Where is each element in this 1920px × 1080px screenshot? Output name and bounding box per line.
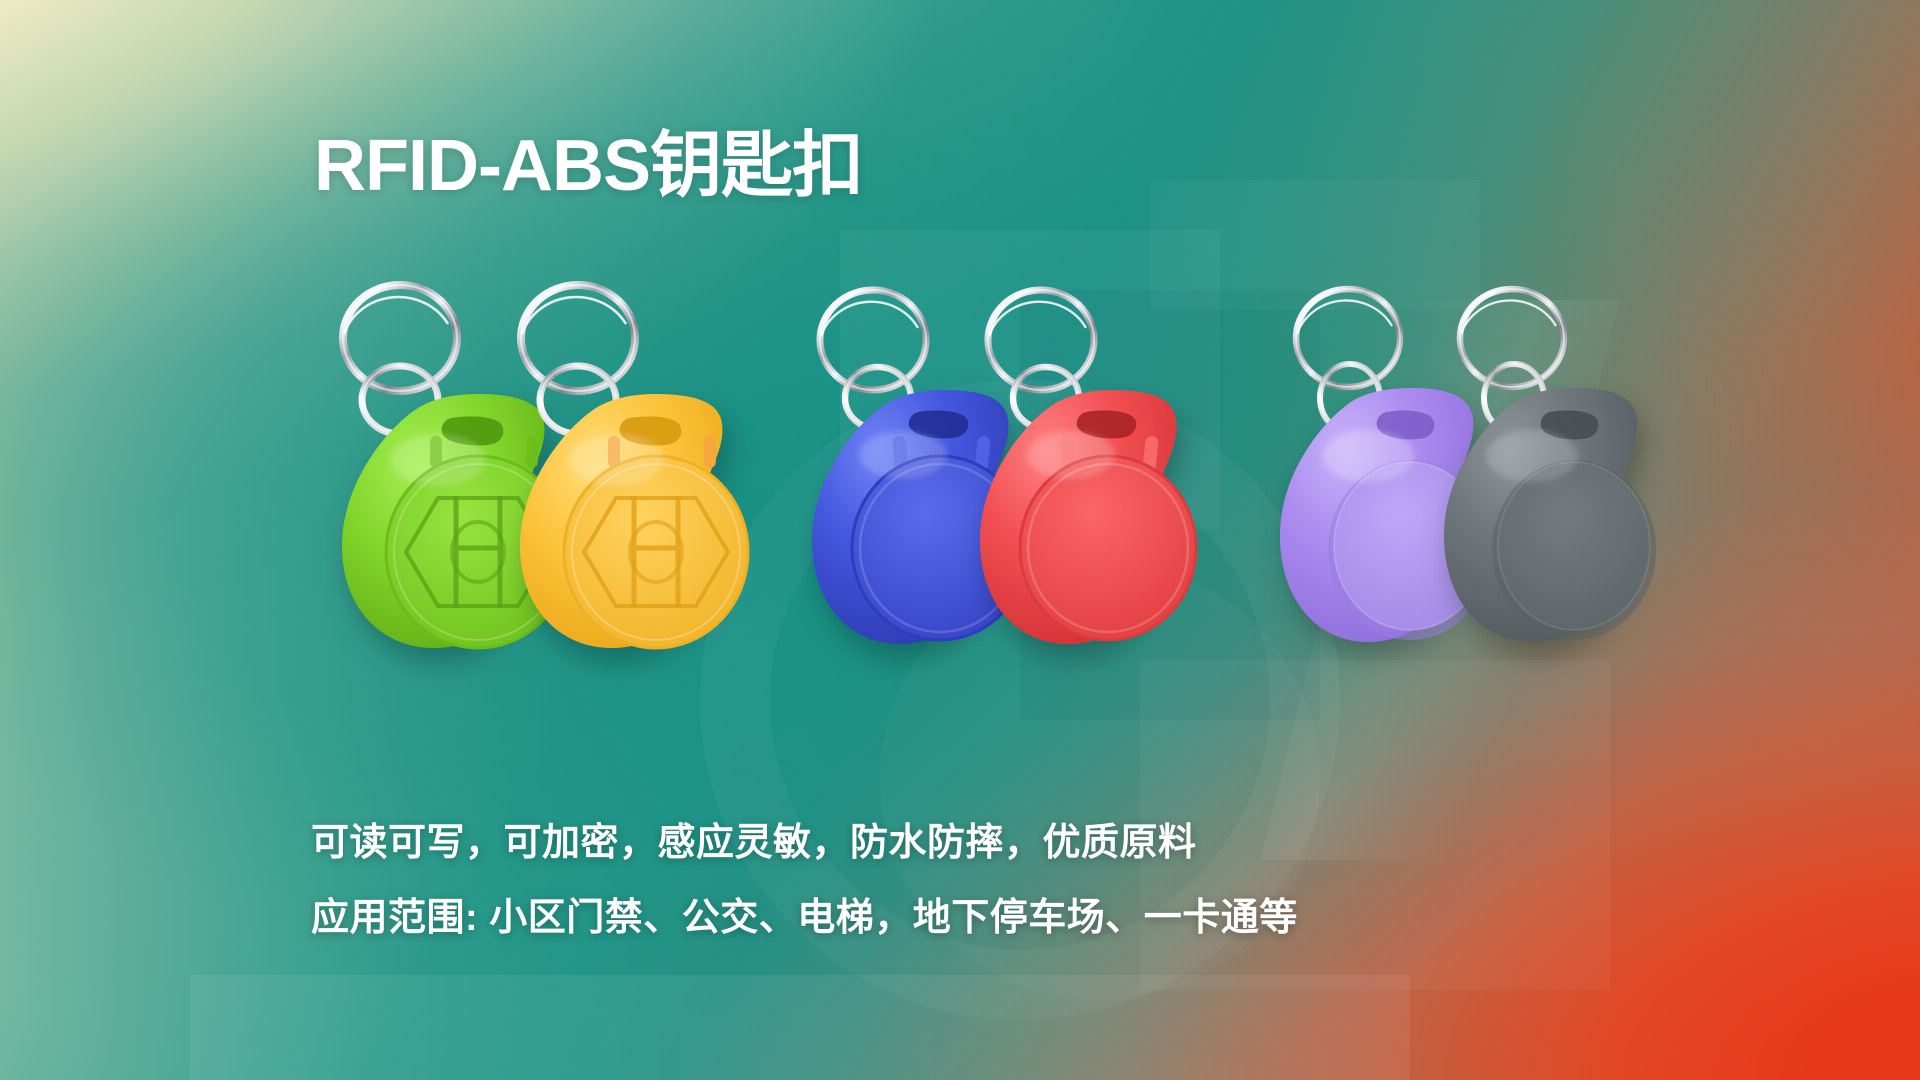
keyfob-purple-highlight <box>1322 430 1414 482</box>
product-banner: RFID-ABS钥匙扣 可读可写，可加密，感应灵敏，防水防摔，优质原料 应用范围… <box>0 0 1920 1080</box>
keyfob-gray-recess <box>1492 460 1656 640</box>
split-ring-blue <box>820 290 926 390</box>
split-ring-green <box>343 285 457 391</box>
keyfob-yellow-highlight <box>568 434 664 486</box>
keyfob-group-purple-gray <box>1250 288 1680 688</box>
split-ring-red <box>988 290 1094 390</box>
tagline-features: 可读可写，可加密，感应灵敏，防水防摔，优质原料 <box>311 811 1197 866</box>
keyfob-yellow-emblem <box>564 456 748 648</box>
keyfob-red[interactable] <box>980 290 1196 644</box>
keyfob-yellow-slot-right <box>704 436 716 468</box>
keyfob-gray-highlight <box>1486 430 1578 482</box>
keyfob-blue-highlight <box>859 431 947 479</box>
keyfob-group-blue-red <box>768 290 1198 690</box>
keyfob-gray[interactable] <box>1444 289 1656 642</box>
keyfob-green-highlight <box>390 434 486 486</box>
keyfob-group-green-yellow <box>288 290 748 690</box>
keyfob-red-highlight <box>1027 431 1115 479</box>
page-title: RFID-ABS钥匙扣 <box>314 130 863 202</box>
split-ring-purple <box>1296 289 1400 387</box>
keyfob-yellow[interactable] <box>520 285 748 648</box>
keyfob-red-disc <box>1020 456 1196 640</box>
keyfob-green-slot-right <box>526 436 538 468</box>
split-ring-yellow <box>521 285 635 391</box>
split-ring-gray <box>1460 289 1564 387</box>
tagline-applications: 应用范围: 小区门禁、公交、电梯，地下停车场、一卡通等 <box>311 886 1298 941</box>
